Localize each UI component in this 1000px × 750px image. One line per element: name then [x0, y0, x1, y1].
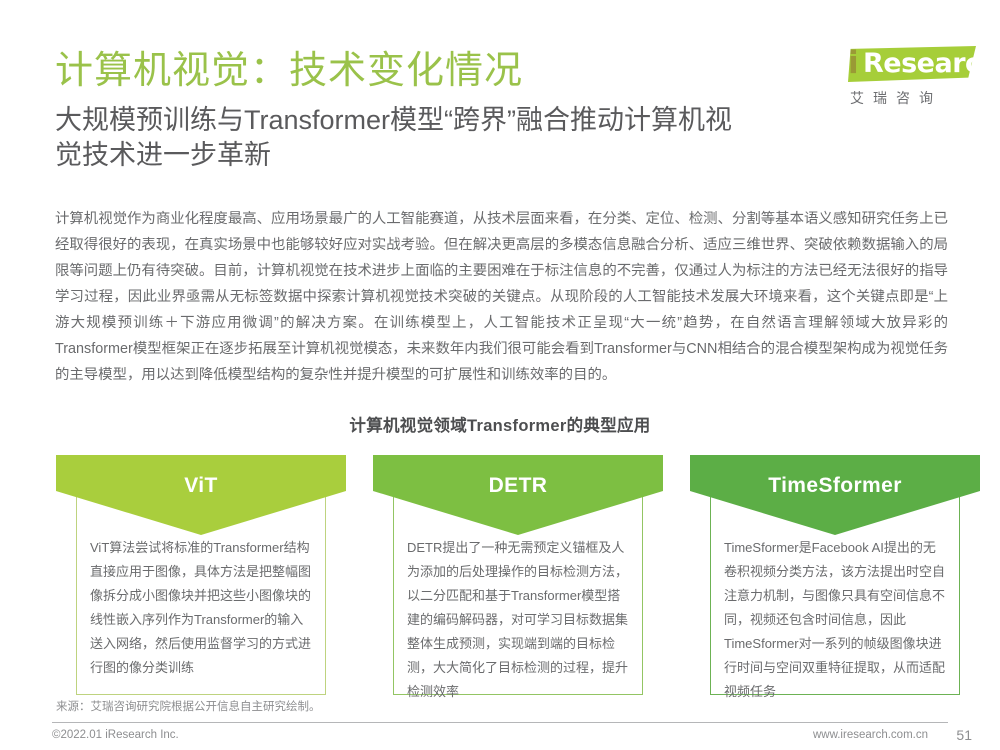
card-text-detr: DETR提出了一种无需预定义锚框及人为添加的后处理操作的目标检测方法，以二分匹配… [407, 536, 629, 704]
figure-title: 计算机视觉领域Transformer的典型应用 [0, 412, 1000, 436]
card-timesformer: TimeSformer TimeSformer是Facebook AI提出的无卷… [690, 455, 980, 700]
card-group: ViT ViT算法尝试将标准的Transformer结构直接应用于图像，具体方法… [0, 455, 1000, 700]
body-paragraph: 计算机视觉作为商业化程度最高、应用场景最广的人工智能赛道，从技术层面来看，在分类… [55, 206, 948, 388]
footer-copyright: ©2022.01 iResearch Inc. [52, 729, 179, 741]
page-title: 计算机视觉：技术变化情况 [55, 50, 775, 93]
footer-page-number: 51 [956, 727, 972, 743]
page-header: 计算机视觉：技术变化情况 大规模预训练与Transformer模型“跨界”融合推… [0, 0, 1000, 190]
logo-chinese-name: 艾瑞咨询 [850, 88, 942, 108]
card-label-detr: DETR [489, 474, 548, 498]
card-vit: ViT ViT算法尝试将标准的Transformer结构直接应用于图像，具体方法… [56, 455, 346, 700]
logo-wordmark: Research [863, 50, 999, 78]
card-text-vit: ViT算法尝试将标准的Transformer结构直接应用于图像，具体方法是把整幅… [90, 536, 312, 680]
card-text-timesformer: TimeSformer是Facebook AI提出的无卷积视频分类方法，该方法提… [724, 536, 946, 704]
logo-initial-letter: i [848, 48, 859, 79]
card-label-vit: ViT [184, 474, 218, 498]
card-label-timesformer: TimeSformer [768, 474, 902, 498]
logo-mark: i Research [830, 42, 978, 86]
source-note: 来源：艾瑞咨询研究院根据公开信息自主研究绘制。 [56, 698, 321, 714]
footer-website-url: www.iresearch.com.cn [813, 729, 928, 741]
footer-divider [52, 722, 948, 723]
card-detr: DETR DETR提出了一种无需预定义锚框及人为添加的后处理操作的目标检测方法，… [373, 455, 663, 700]
iresearch-logo: i Research 艾瑞咨询 [830, 42, 978, 114]
title-block: 计算机视觉：技术变化情况 大规模预训练与Transformer模型“跨界”融合推… [55, 50, 775, 174]
page-footer: ©2022.01 iResearch Inc. www.iresearch.co… [0, 727, 1000, 750]
page-subtitle: 大规模预训练与Transformer模型“跨界”融合推动计算机视觉技术进一步革新 [55, 103, 755, 174]
